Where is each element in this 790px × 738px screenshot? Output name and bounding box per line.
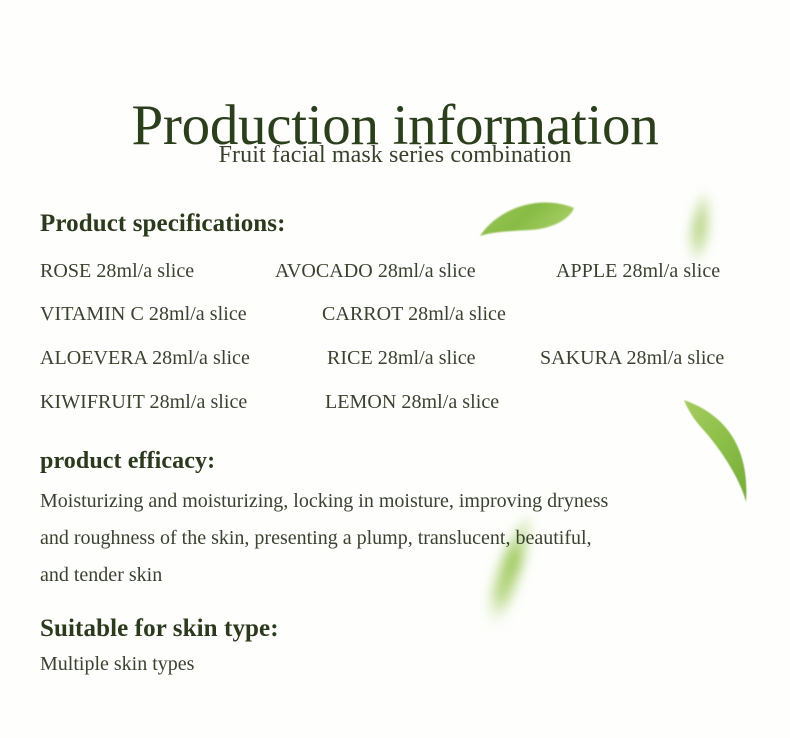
efficacy-text: Moisturizing and moisturizing, locking i… (40, 483, 752, 594)
spec-item: KIWIFRUIT 28ml/a slice (40, 391, 247, 414)
efficacy-line: and tender skin (40, 557, 752, 594)
skin-type-value: Multiple skin types (40, 653, 194, 676)
spec-row: ROSE 28ml/a slice AVOCADO 28ml/a slice A… (0, 260, 790, 286)
spec-item: VITAMIN C 28ml/a slice (40, 303, 247, 326)
spec-item: APPLE 28ml/a slice (556, 260, 720, 283)
spec-item: RICE 28ml/a slice (327, 347, 476, 370)
efficacy-heading: product efficacy: (40, 448, 215, 475)
page-subtitle: Fruit facial mask series combination (0, 142, 790, 169)
spec-row: VITAMIN C 28ml/a slice CARROT 28ml/a sli… (0, 303, 790, 329)
spec-item: ROSE 28ml/a slice (40, 260, 194, 283)
leaf-arc-top-center-icon (478, 192, 582, 244)
specifications-heading: Product specifications: (40, 210, 286, 238)
spec-item: AVOCADO 28ml/a slice (275, 260, 476, 283)
spec-item: ALOEVERA 28ml/a slice (40, 347, 250, 370)
spec-item: SAKURA 28ml/a slice (540, 347, 724, 370)
efficacy-line: and roughness of the skin, presenting a … (40, 520, 752, 557)
spec-item: LEMON 28ml/a slice (325, 391, 499, 414)
spec-row: ALOEVERA 28ml/a slice RICE 28ml/a slice … (0, 347, 790, 373)
spec-item: CARROT 28ml/a slice (322, 303, 506, 326)
spec-row: KIWIFRUIT 28ml/a slice LEMON 28ml/a slic… (0, 391, 790, 417)
skin-type-heading: Suitable for skin type: (40, 615, 279, 643)
efficacy-line: Moisturizing and moisturizing, locking i… (40, 483, 752, 520)
product-information-page: Production information Fruit facial mask… (0, 0, 790, 738)
